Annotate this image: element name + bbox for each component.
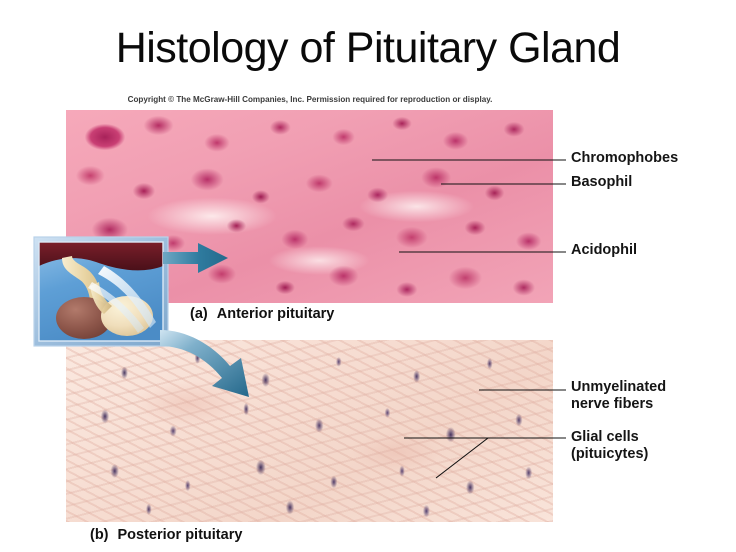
caption-letter-b: (b) bbox=[90, 527, 109, 543]
pituitary-gland-inset bbox=[32, 236, 170, 348]
caption-letter-a: (a) bbox=[190, 306, 208, 322]
page-title: Histology of Pituitary Gland bbox=[0, 26, 736, 71]
caption-anterior-pituitary: (a)Anterior pituitary bbox=[190, 306, 334, 322]
micrograph-posterior-pituitary bbox=[66, 340, 553, 522]
callout-glial-cells: Glial cells (pituicytes) bbox=[571, 429, 648, 463]
callout-unmyelinated-nerve-fibers: Unmyelinated nerve fibers bbox=[571, 379, 666, 413]
copyright-notice: Copyright © The McGraw-Hill Companies, I… bbox=[68, 95, 551, 104]
slide-canvas: Histology of Pituitary Gland Copyright ©… bbox=[0, 0, 736, 552]
caption-posterior-pituitary: (b)Posterior pituitary bbox=[90, 527, 242, 543]
caption-text-a: Anterior pituitary bbox=[217, 306, 335, 322]
callout-basophil: Basophil bbox=[571, 174, 632, 191]
callout-chromophobes: Chromophobes bbox=[571, 150, 678, 167]
callout-acidophil: Acidophil bbox=[571, 242, 637, 259]
caption-text-b: Posterior pituitary bbox=[118, 527, 243, 543]
